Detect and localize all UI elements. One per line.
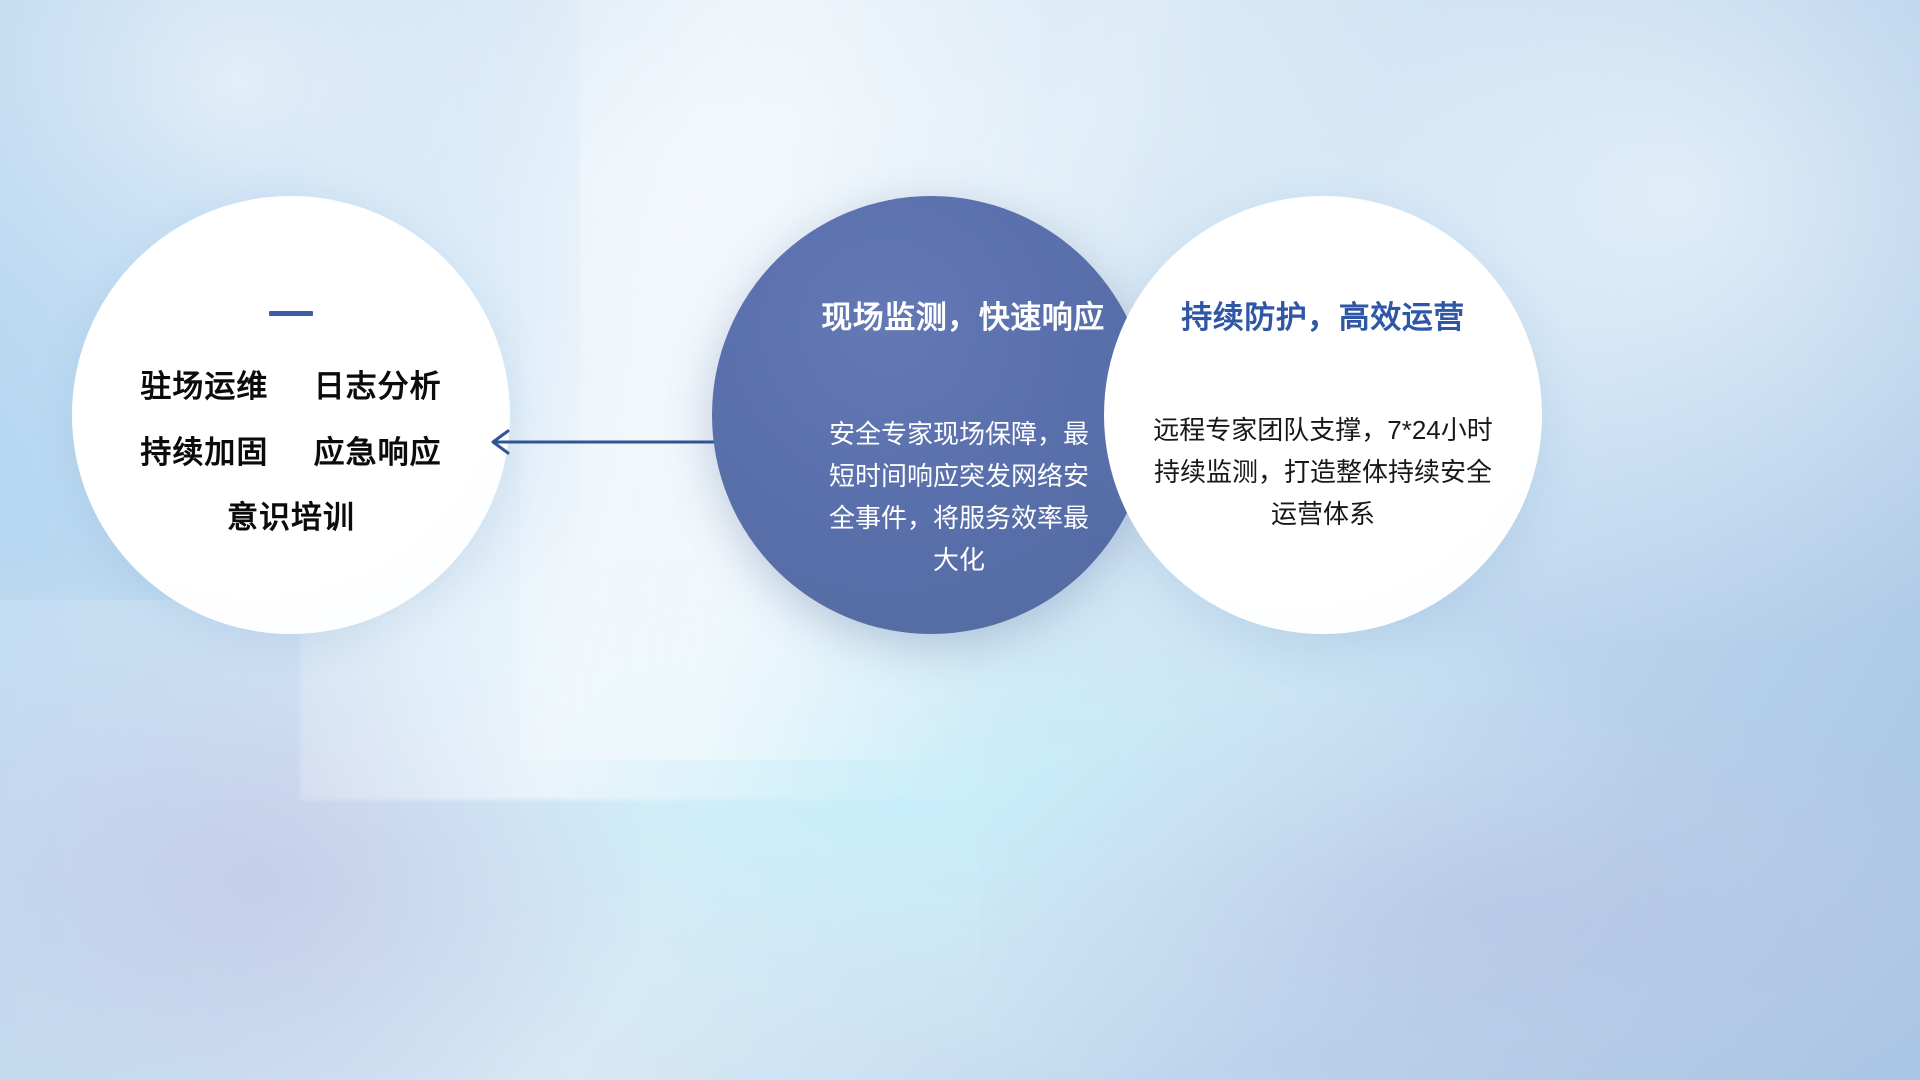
- leftward-arrow-icon: [480, 412, 730, 472]
- right-circle-content: 持续防护，高效运营 远程专家团队支撑，7*24小时持续监测，打造整体持续安全运营…: [1104, 196, 1542, 634]
- right-circle-body: 远程专家团队支撑，7*24小时持续监测，打造整体持续安全运营体系: [1147, 409, 1499, 535]
- center-circle-onsite-monitoring: 现场监测，快速响应 安全专家现场保障，最短时间响应突发网络安全事件，将服务效率最…: [712, 196, 1150, 634]
- capability-row-2: 持续加固 应急响应: [140, 436, 441, 469]
- capability-row-1: 驻场运维 日志分析: [140, 370, 441, 403]
- left-circle-content: 驻场运维 日志分析 持续加固 应急响应 意识培训: [72, 196, 510, 634]
- capability-label-continuous-hardening: 持续加固: [140, 435, 268, 470]
- center-circle-title: 现场监测，快速响应: [821, 292, 1105, 337]
- capability-label-awareness-training: 意识培训: [227, 500, 355, 535]
- left-circle-capability-list: 驻场运维 日志分析 持续加固 应急响应 意识培训: [72, 196, 510, 634]
- capability-label-onsite-ops: 驻场运维: [140, 369, 268, 404]
- right-circle-continuous-protection: 持续防护，高效运营 远程专家团队支撑，7*24小时持续监测，打造整体持续安全运营…: [1104, 196, 1542, 634]
- divider-dash: [269, 311, 313, 316]
- center-circle-content: 现场监测，快速响应 安全专家现场保障，最短时间响应突发网络安全事件，将服务效率最…: [712, 196, 1150, 634]
- capability-label-emergency-response: 应急响应: [314, 435, 442, 470]
- capability-label-log-analysis: 日志分析: [314, 369, 442, 404]
- center-circle-body: 安全专家现场保障，最短时间响应突发网络安全事件，将服务效率最大化: [822, 413, 1096, 581]
- capability-row-3: 意识培训: [227, 501, 355, 534]
- right-circle-title: 持续防护，高效运营: [1181, 292, 1465, 337]
